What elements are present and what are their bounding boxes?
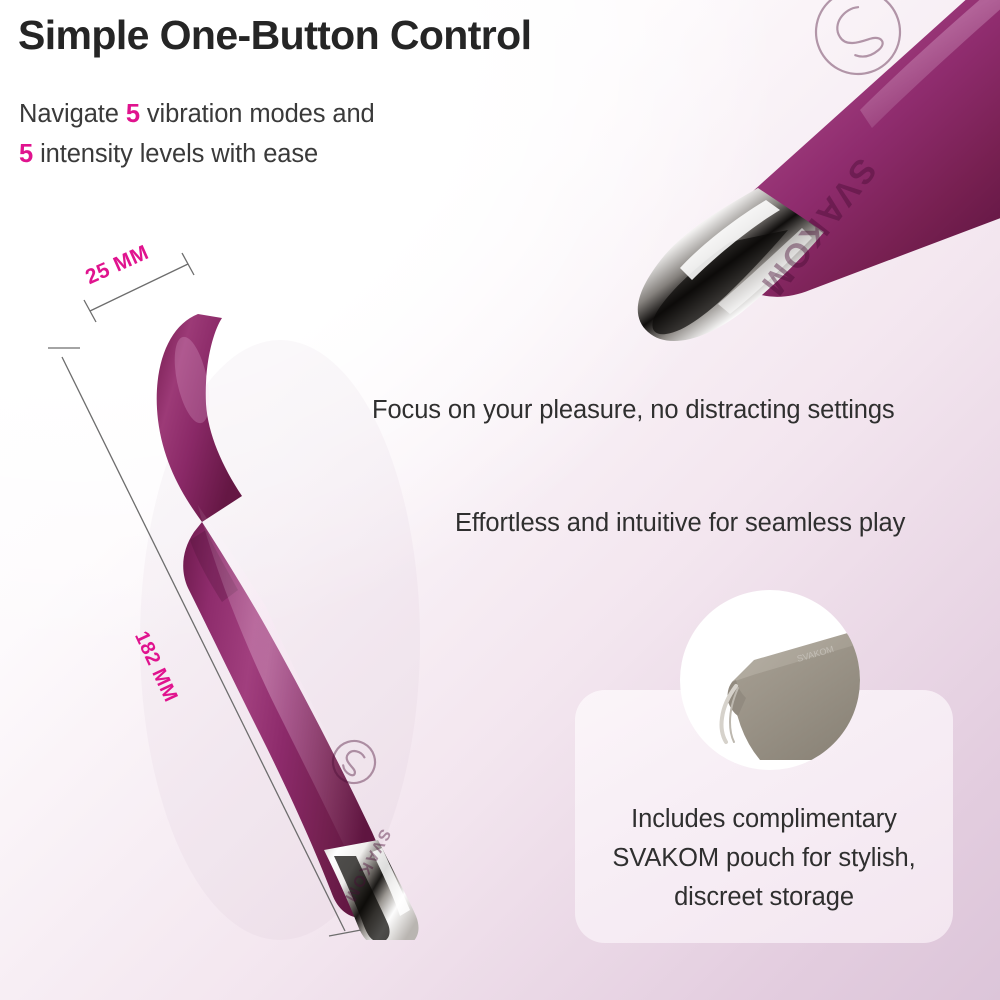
brand-emboss: SVAKOM [340, 826, 393, 906]
product-head [157, 314, 242, 522]
closeup-sheen [860, 0, 1000, 128]
button-s-glyph [340, 748, 365, 777]
product-head-highlight [168, 334, 216, 426]
closeup-button-ring [799, 0, 917, 91]
length-dimension-label: 182 MM [129, 628, 182, 706]
product-sheen [182, 420, 400, 896]
closeup-chrome-base [638, 188, 824, 341]
product-chrome-reflection [334, 856, 390, 940]
page-title: Simple One-Button Control [18, 12, 531, 59]
subtitle-post-text: vibration modes and [140, 100, 375, 128]
product-chrome-base [324, 840, 419, 940]
subtitle-pre-text: Navigate [19, 100, 126, 128]
product-waist-shade [190, 530, 238, 602]
subtitle-line-1: Navigate 5 vibration modes and [19, 100, 375, 129]
subtitle-line-2: 5 intensity levels with ease [19, 140, 318, 169]
closeup-body [718, 0, 1000, 297]
closeup-chrome-highlight [680, 200, 780, 280]
pouch-caption-line-3: discreet storage [575, 878, 953, 917]
control-button[interactable] [326, 734, 383, 791]
product-shadow [140, 340, 420, 940]
product-infographic: Simple One-Button Control Navigate 5 vib… [0, 0, 1000, 1000]
product-sheen-group [182, 420, 400, 896]
pouch-caption: Includes complimentary SVAKOM pouch for … [575, 800, 953, 917]
intensity-count: 5 [19, 140, 33, 168]
subtitle-line-2-text: intensity levels with ease [33, 140, 318, 168]
product-shaft [183, 522, 393, 918]
button-ring [326, 734, 383, 791]
pouch-illustration: SVAKOM [680, 590, 860, 770]
pouch-photo: SVAKOM [680, 590, 860, 770]
pouch-caption-line-2: SVAKOM pouch for stylish, [575, 839, 953, 878]
product-chrome-highlight [372, 848, 410, 916]
modes-count: 5 [126, 100, 140, 128]
width-dimension-label: 25 MM [82, 241, 153, 290]
product-closeup-view: SVAKOM [560, 0, 1000, 360]
closeup-button-s-glyph [830, 4, 888, 64]
closeup-chrome-highlight-2 [718, 228, 812, 314]
closeup-chrome-reflection [652, 230, 788, 334]
pouch-caption-line-1: Includes complimentary [575, 800, 953, 839]
tagline-focus: Focus on your pleasure, no distracting s… [372, 396, 895, 425]
closeup-brand-emboss: SVAKOM [752, 151, 883, 304]
tagline-effortless: Effortless and intuitive for seamless pl… [455, 509, 905, 538]
length-dimension [48, 348, 361, 936]
closeup-control-button[interactable] [799, 0, 917, 91]
